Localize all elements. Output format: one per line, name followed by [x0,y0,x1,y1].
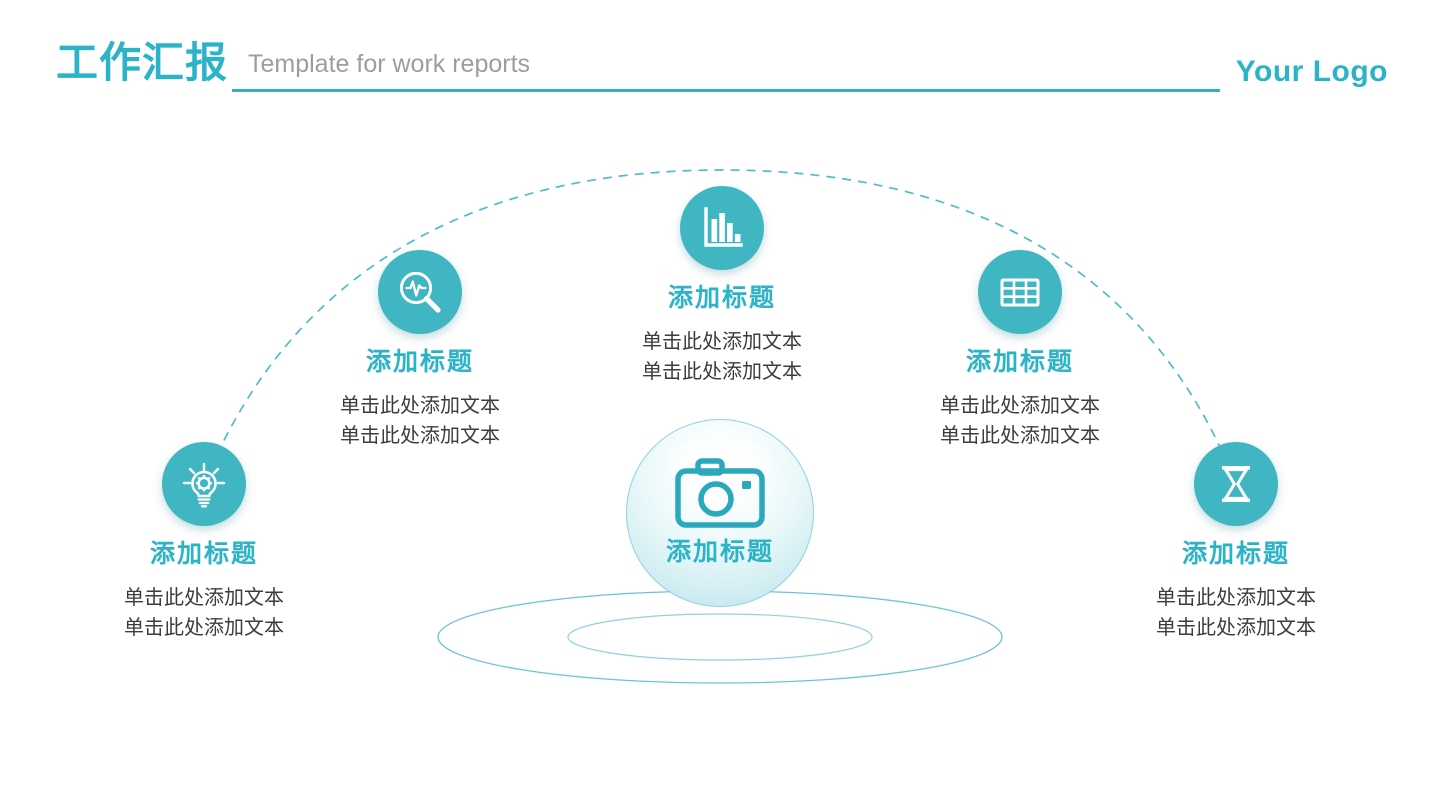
node-body-line: 单击此处添加文本 [870,391,1170,421]
node-body-line: 单击此处添加文本 [270,391,570,421]
center-title: 添加标题 [540,538,900,567]
node-bar-chart[interactable]: 添加标题 单击此处添加文本 单击此处添加文本 [572,186,872,388]
node-lightbulb[interactable]: 添加标题 单击此处添加文本 单击此处添加文本 [54,442,354,644]
node-body-line: 单击此处添加文本 [1086,583,1386,613]
node-body-line: 单击此处添加文本 [54,583,354,613]
node-body: 单击此处添加文本 单击此处添加文本 [270,391,570,452]
node-body: 单击此处添加文本 单击此处添加文本 [1086,583,1386,644]
node-body: 单击此处添加文本 单击此处添加文本 [54,583,354,644]
magnifier-pulse-icon[interactable] [378,250,462,334]
node-body-line: 单击此处添加文本 [572,357,872,387]
node-body: 单击此处添加文本 单击此处添加文本 [572,327,872,388]
node-title: 添加标题 [870,348,1170,377]
node-body-line: 单击此处添加文本 [270,421,570,451]
node-title: 添加标题 [572,284,872,313]
camera-icon[interactable] [672,456,768,532]
dashed-arc [0,0,1440,810]
node-body-line: 单击此处添加文本 [1086,613,1386,643]
node-title: 添加标题 [270,348,570,377]
diagram-stage: 添加标题 单击此处添加文本 单击此处添加文本 添加标题 单击此处添加文本 单击此… [0,0,1440,810]
node-hourglass[interactable]: 添加标题 单击此处添加文本 单击此处添加文本 [1086,442,1386,644]
hourglass-icon[interactable] [1194,442,1278,526]
orbit-rings [0,0,1440,810]
node-body-line: 单击此处添加文本 [54,613,354,643]
table-grid-icon[interactable] [978,250,1062,334]
node-body-line: 单击此处添加文本 [572,327,872,357]
bar-chart-icon[interactable] [680,186,764,270]
node-title: 添加标题 [54,540,354,569]
node-title: 添加标题 [1086,540,1386,569]
node-magnifier[interactable]: 添加标题 单击此处添加文本 单击此处添加文本 [270,250,570,452]
lightbulb-gear-icon[interactable] [162,442,246,526]
node-table[interactable]: 添加标题 单击此处添加文本 单击此处添加文本 [870,250,1170,452]
